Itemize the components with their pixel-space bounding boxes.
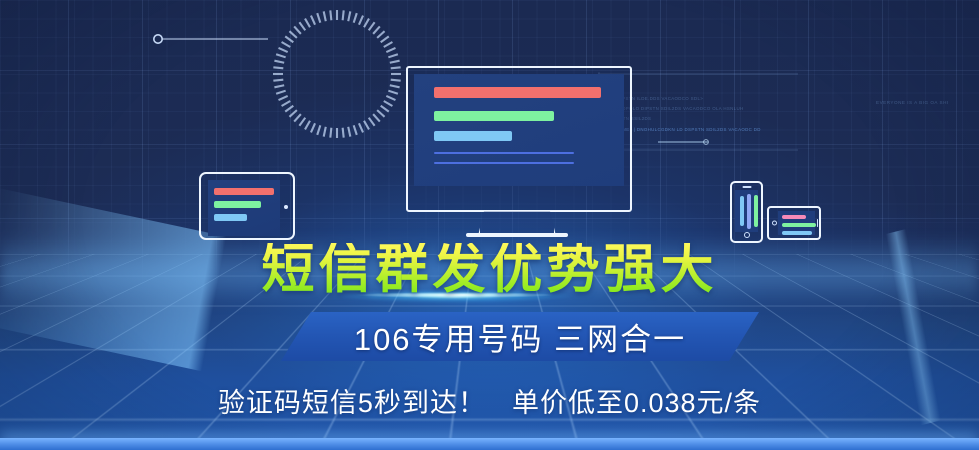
monitor-base xyxy=(466,233,568,237)
phone-vbar-2 xyxy=(747,194,751,229)
monitor-screen xyxy=(414,74,624,186)
phone-speaker-icon xyxy=(742,186,751,188)
monitor-bar-3 xyxy=(434,131,512,141)
decor-right-text: EVERYONE IS A BIG OA SHI xyxy=(876,100,949,105)
tablet-home-dot-icon xyxy=(284,205,288,209)
phone-home-button-icon[interactable] xyxy=(744,232,750,238)
phone-screen xyxy=(735,190,758,232)
smartphone-portrait[interactable] xyxy=(730,181,763,243)
phone-landscape-home-button-icon[interactable] xyxy=(772,221,777,226)
node-connector-icon xyxy=(150,30,270,48)
bottom-accent-strip xyxy=(0,438,979,450)
desktop-monitor[interactable] xyxy=(406,66,632,212)
subline-left: 验证码短信5秒到达！ xyxy=(218,388,486,418)
promo-banner: IN IS DIPSTN ILDE.DDS VACAODCO SDL> | AM… xyxy=(0,0,979,450)
ribbon-label: 106专用号码 三网合一 xyxy=(281,312,759,361)
tablet-bar-2 xyxy=(214,201,261,208)
tablet-screen xyxy=(208,180,280,236)
subline-right: 单价低至0.038元/条 xyxy=(512,388,761,418)
phone-vbar-1 xyxy=(740,196,744,226)
phone-landscape-screen xyxy=(778,211,815,235)
tick-ring-icon xyxy=(271,8,403,140)
subline: 验证码短信5秒到达！单价低至0.038元/条 xyxy=(0,381,979,420)
phone-vbar-3 xyxy=(754,195,758,227)
phone-landscape-bar-2 xyxy=(782,223,816,227)
tablet[interactable] xyxy=(199,172,295,240)
phone-landscape-bar-1 xyxy=(782,215,806,219)
smartphone-landscape[interactable] xyxy=(767,206,821,240)
monitor-line-1 xyxy=(434,152,574,154)
monitor-bar-2 xyxy=(434,111,554,121)
phone-landscape-speaker-icon xyxy=(817,219,819,227)
monitor-bar-1 xyxy=(434,87,601,98)
tablet-bar-3 xyxy=(214,214,247,221)
tablet-bar-1 xyxy=(214,188,274,195)
headline: 短信群发优势强大 xyxy=(0,243,979,296)
monitor-line-2 xyxy=(434,162,574,164)
phone-landscape-bar-3 xyxy=(782,231,812,235)
